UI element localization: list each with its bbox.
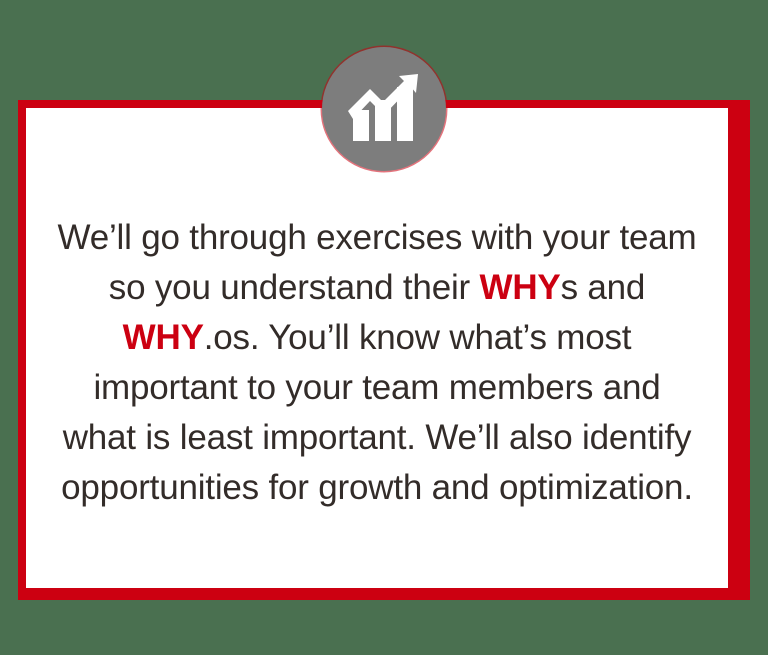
body-segment-2: s and (561, 268, 646, 307)
body-segment-why-1: WHY (480, 268, 561, 307)
card-body-text: We’ll go through exercises with your tea… (26, 213, 728, 513)
growth-bar-chart-arrow-icon (322, 47, 446, 171)
body-segment-why-2: WHY (123, 318, 204, 357)
slide-canvas: We’ll go through exercises with your tea… (0, 0, 768, 655)
